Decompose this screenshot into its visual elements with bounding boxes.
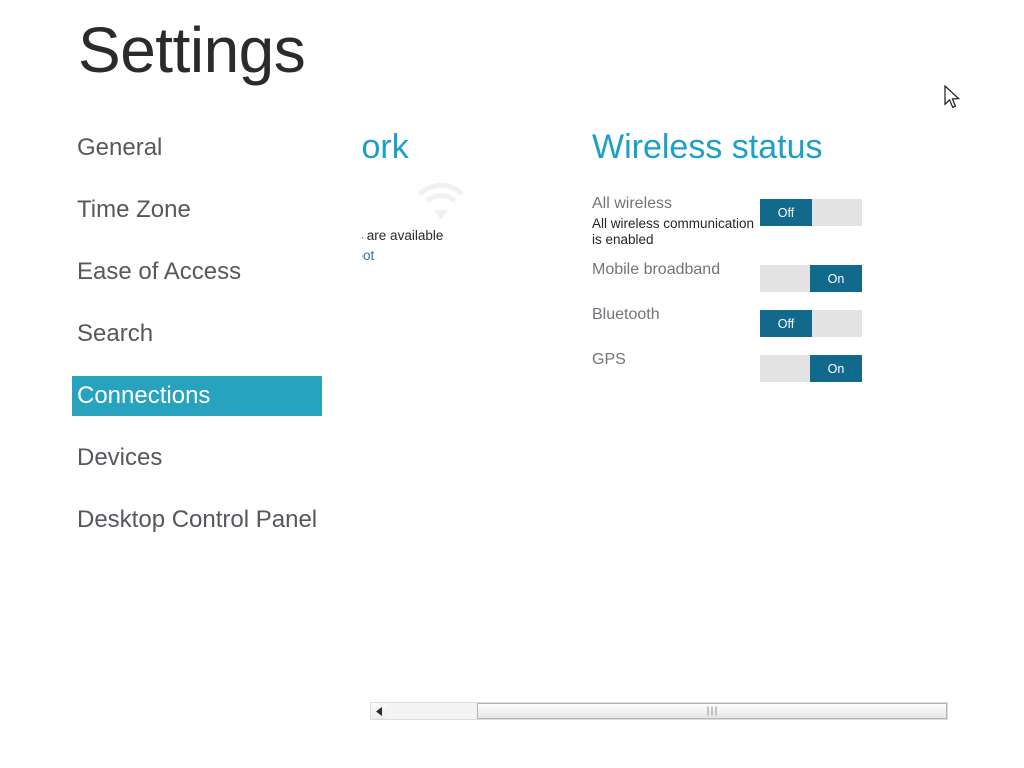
wireless-row-bluetooth: Bluetooth Off: [592, 306, 892, 351]
sidebar-item-label: Search: [77, 320, 153, 348]
page-title: Settings: [78, 18, 305, 82]
horizontal-scrollbar[interactable]: [370, 702, 948, 720]
toggle-state-label: Off: [760, 310, 812, 337]
grip-icon: [708, 707, 717, 716]
toggle-state-label: On: [810, 355, 862, 382]
toggle-track: [812, 199, 862, 226]
wifi-icon: [414, 180, 468, 224]
sidebar-item-general[interactable]: General: [72, 128, 322, 168]
toggle-all-wireless[interactable]: Off: [760, 199, 862, 226]
sidebar-item-ease-of-access[interactable]: Ease of Access: [72, 252, 322, 292]
toggle-state-label: On: [810, 265, 862, 292]
sidebar-item-label: Ease of Access: [77, 258, 241, 286]
troubleshoot-link[interactable]: Troubleshoot: [362, 248, 374, 263]
wireless-row-gps: GPS On: [592, 351, 892, 396]
wireless-row-mobile-broadband: Mobile broadband On: [592, 261, 892, 306]
wireless-row-label: Mobile broadband: [592, 261, 720, 279]
scroll-left-button[interactable]: [371, 703, 387, 719]
sidebar-item-label: General: [77, 134, 162, 162]
wireless-row-all-wireless: All wireless All wireless communication …: [592, 195, 892, 261]
sidebar-item-label: Time Zone: [77, 196, 191, 224]
toggle-gps[interactable]: On: [760, 355, 862, 382]
wireless-row-label: GPS: [592, 351, 626, 369]
scrollbar-thumb[interactable]: [477, 703, 947, 719]
toggle-state-label: Off: [760, 199, 812, 226]
arrow-cursor: [944, 85, 962, 111]
network-status-text: Connections are available: [362, 228, 443, 243]
toggle-track: [760, 355, 810, 382]
sidebar-item-label: Connections: [77, 382, 210, 410]
triangle-left-icon: [376, 707, 383, 716]
wireless-row-label: Bluetooth: [592, 306, 660, 324]
toggle-track: [760, 265, 810, 292]
sidebar-item-devices[interactable]: Devices: [72, 438, 322, 478]
wireless-status-pane: Wireless status All wireless All wireles…: [592, 128, 892, 396]
sidebar-item-label: Devices: [77, 444, 162, 472]
wireless-row-description: All wireless communication is enabled: [592, 216, 762, 248]
sidebar-item-time-zone[interactable]: Time Zone: [72, 190, 322, 230]
sidebar-item-desktop-control-panel[interactable]: Desktop Control Panel: [72, 500, 322, 540]
sidebar-item-search[interactable]: Search: [72, 314, 322, 354]
sidebar-item-connections[interactable]: Connections: [72, 376, 322, 416]
sidebar-item-label: Desktop Control Panel: [77, 506, 317, 534]
wireless-status-heading: Wireless status: [592, 128, 892, 167]
toggle-track: [812, 310, 862, 337]
toggle-mobile-broadband[interactable]: On: [760, 265, 862, 292]
settings-sidebar: General Time Zone Ease of Access Search …: [72, 128, 322, 562]
scrollbar-track[interactable]: [387, 703, 931, 719]
toggle-bluetooth[interactable]: Off: [760, 310, 862, 337]
wireless-row-label: All wireless: [592, 195, 672, 213]
network-pane-heading: Network: [362, 128, 409, 167]
network-pane: Network Connections are available Troubl…: [362, 128, 577, 688]
